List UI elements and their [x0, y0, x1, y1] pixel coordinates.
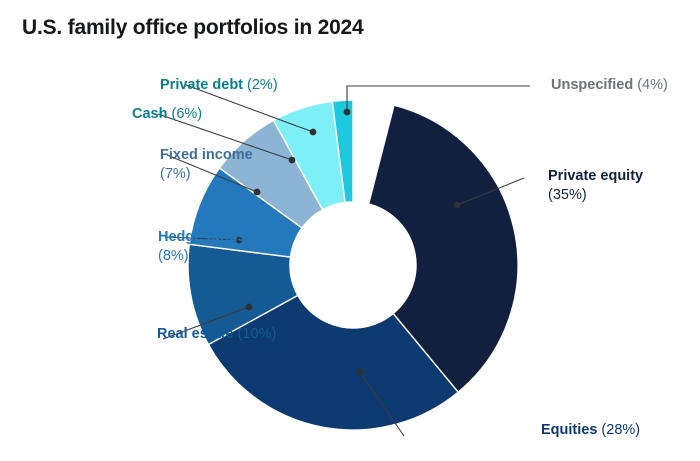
leader-dot: [344, 109, 351, 116]
slice-label-percent: (8%): [158, 248, 189, 264]
leader-dot: [357, 369, 364, 376]
slice-label-name: Real estate: [157, 326, 234, 342]
slice-label-percent: (4%): [633, 77, 668, 93]
slice-label-percent: (10%): [234, 326, 277, 342]
leader-dot: [254, 189, 261, 196]
slice-label: Unspecified (4%): [551, 76, 668, 95]
slice-label: Private equity(35%): [548, 167, 643, 205]
slice-label-name: Equities: [541, 422, 597, 438]
slice-label-percent: (2%): [243, 77, 278, 93]
slice-label-percent: (6%): [167, 106, 202, 122]
leader-dot: [289, 157, 296, 164]
slice-label-name: Private equity: [548, 168, 643, 184]
slice-label-name: Fixed income: [160, 147, 253, 163]
slice-label-name: Unspecified: [551, 77, 633, 93]
slice-label-name: Private debt: [160, 77, 243, 93]
leader-dot: [246, 304, 253, 311]
slice-label-percent: (7%): [160, 166, 191, 182]
slice-label-name: Hedge funds: [158, 229, 246, 245]
donut-chart-figure: U.S. family office portfolios in 2024 Un…: [0, 0, 700, 461]
slice-label-percent: (28%): [597, 422, 640, 438]
slice-label: Equities (28%): [541, 421, 640, 440]
leader-dot: [310, 129, 317, 136]
leader-dot: [454, 202, 461, 209]
slice-label-name: Cash: [132, 106, 167, 122]
donut-chart-svg: [0, 0, 700, 461]
slice-label-percent: (35%): [548, 187, 587, 203]
